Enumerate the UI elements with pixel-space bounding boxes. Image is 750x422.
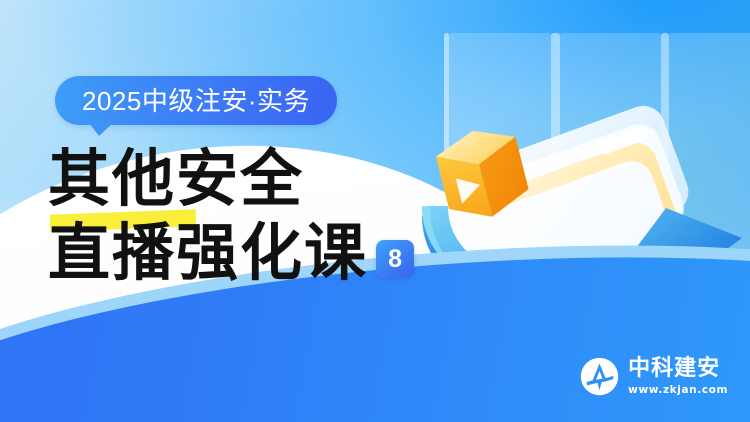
brand-name: 中科建安 <box>628 358 728 380</box>
course-category-label: 2025中级注安·实务 <box>82 88 310 114</box>
episode-badge: 8 <box>376 240 414 278</box>
course-poster: 2025中级注安·实务 其他安全 直播强化课 8 中科建安 www.zkjan.… <box>0 0 750 422</box>
title-line-1-row: 其他安全 <box>48 148 414 210</box>
zkjan-circle-logo-icon <box>580 357 619 396</box>
brand-url: www.zkjan.com <box>628 385 728 396</box>
page-title: 其他安全 直播强化课 8 <box>48 148 414 284</box>
course-category-badge[interactable]: 2025中级注安·实务 <box>55 76 337 125</box>
title-line-2: 直播强化课 <box>48 222 368 284</box>
brand-logo[interactable]: 中科建安 www.zkjan.com <box>580 357 728 396</box>
title-line-2-row: 直播强化课 8 <box>48 222 414 284</box>
title-line-1: 其他安全 <box>48 148 304 210</box>
speech-bubble-tail-icon <box>89 123 113 136</box>
